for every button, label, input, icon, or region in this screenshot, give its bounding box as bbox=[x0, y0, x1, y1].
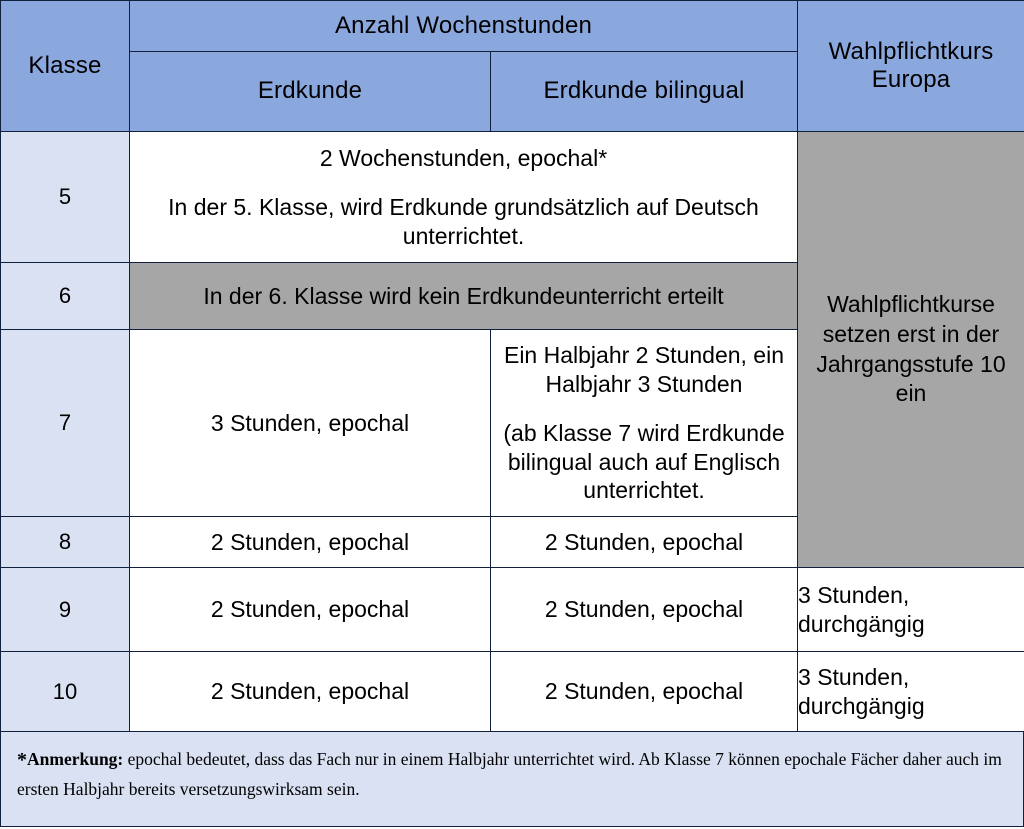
erdkunde-note-line: In der 5. Klasse, wird Erdkunde grundsät… bbox=[168, 194, 759, 249]
spacer bbox=[491, 398, 797, 419]
erdkunde-cell-klasse-5: 2 Wochenstunden, epochal* In der 5. Klas… bbox=[130, 132, 798, 263]
schedule-sheet: Klasse Anzahl Wochenstunden Wahlpflichtk… bbox=[0, 0, 1024, 829]
klasse-value: 10 bbox=[1, 652, 130, 732]
footnote-text: epochal bedeutet, dass das Fach nur in e… bbox=[17, 749, 1002, 799]
bilingual-note-line: (ab Klasse 7 wird Erdkunde bilingual auc… bbox=[503, 420, 784, 503]
column-header-erdkunde-bilingual: Erdkunde bilingual bbox=[491, 52, 798, 132]
footnote-box: *Anmerkung: epochal bedeutet, dass das F… bbox=[0, 732, 1024, 827]
table-row: 9 2 Stunden, epochal 2 Stunden, epochal … bbox=[1, 568, 1024, 652]
erdkunde-hours-line: 2 Wochenstunden, epochal* bbox=[320, 145, 607, 171]
klasse-value: 9 bbox=[1, 568, 130, 652]
footnote-asterisk: * bbox=[17, 749, 27, 771]
table-header-row-top: Klasse Anzahl Wochenstunden Wahlpflichtk… bbox=[1, 1, 1024, 52]
erdkunde-bilingual-cell-klasse-8: 2 Stunden, epochal bbox=[491, 517, 798, 568]
column-header-wahlpflichtkurs-europa: Wahlpflichtkurs Europa bbox=[798, 1, 1024, 132]
erdkunde-bilingual-cell-klasse-10: 2 Stunden, epochal bbox=[491, 652, 798, 732]
klasse-value: 8 bbox=[1, 517, 130, 568]
erdkunde-cell-klasse-8: 2 Stunden, epochal bbox=[130, 517, 491, 568]
no-lessons-note-klasse-6: In der 6. Klasse wird kein Erdkundeunter… bbox=[130, 263, 798, 330]
erdkunde-cell-klasse-7: 3 Stunden, epochal bbox=[130, 330, 491, 517]
column-header-klasse: Klasse bbox=[1, 1, 130, 132]
wahlpflichtkurs-cell-klasse-10: 3 Stunden, durchgängig bbox=[798, 652, 1024, 732]
klasse-value: 6 bbox=[1, 263, 130, 330]
footnote-lead: Anmerkung: bbox=[27, 749, 123, 769]
erdkunde-bilingual-cell-klasse-9: 2 Stunden, epochal bbox=[491, 568, 798, 652]
erdkunde-bilingual-cell-klasse-7: Ein Halbjahr 2 Stunden, ein Halbjahr 3 S… bbox=[491, 330, 798, 517]
table-row: 5 2 Wochenstunden, epochal* In der 5. Kl… bbox=[1, 132, 1024, 263]
bilingual-hours-line: Ein Halbjahr 2 Stunden, ein Halbjahr 3 S… bbox=[504, 342, 784, 397]
klasse-value: 5 bbox=[1, 132, 130, 263]
wahlpflichtkurs-cell-klasse-9: 3 Stunden, durchgängig bbox=[798, 568, 1024, 652]
klasse-value: 7 bbox=[1, 330, 130, 517]
spacer bbox=[130, 172, 797, 193]
column-header-anzahl-wochenstunden: Anzahl Wochenstunden bbox=[130, 1, 798, 52]
erdkunde-cell-klasse-10: 2 Stunden, epochal bbox=[130, 652, 491, 732]
weekly-hours-table: Klasse Anzahl Wochenstunden Wahlpflichtk… bbox=[0, 0, 1024, 732]
erdkunde-cell-klasse-9: 2 Stunden, epochal bbox=[130, 568, 491, 652]
wahlpflichtkurs-merged-note: Wahlpflichtkurse setzen erst in der Jahr… bbox=[798, 132, 1024, 568]
table-row: 10 2 Stunden, epochal 2 Stunden, epochal… bbox=[1, 652, 1024, 732]
column-header-erdkunde: Erdkunde bbox=[130, 52, 491, 132]
